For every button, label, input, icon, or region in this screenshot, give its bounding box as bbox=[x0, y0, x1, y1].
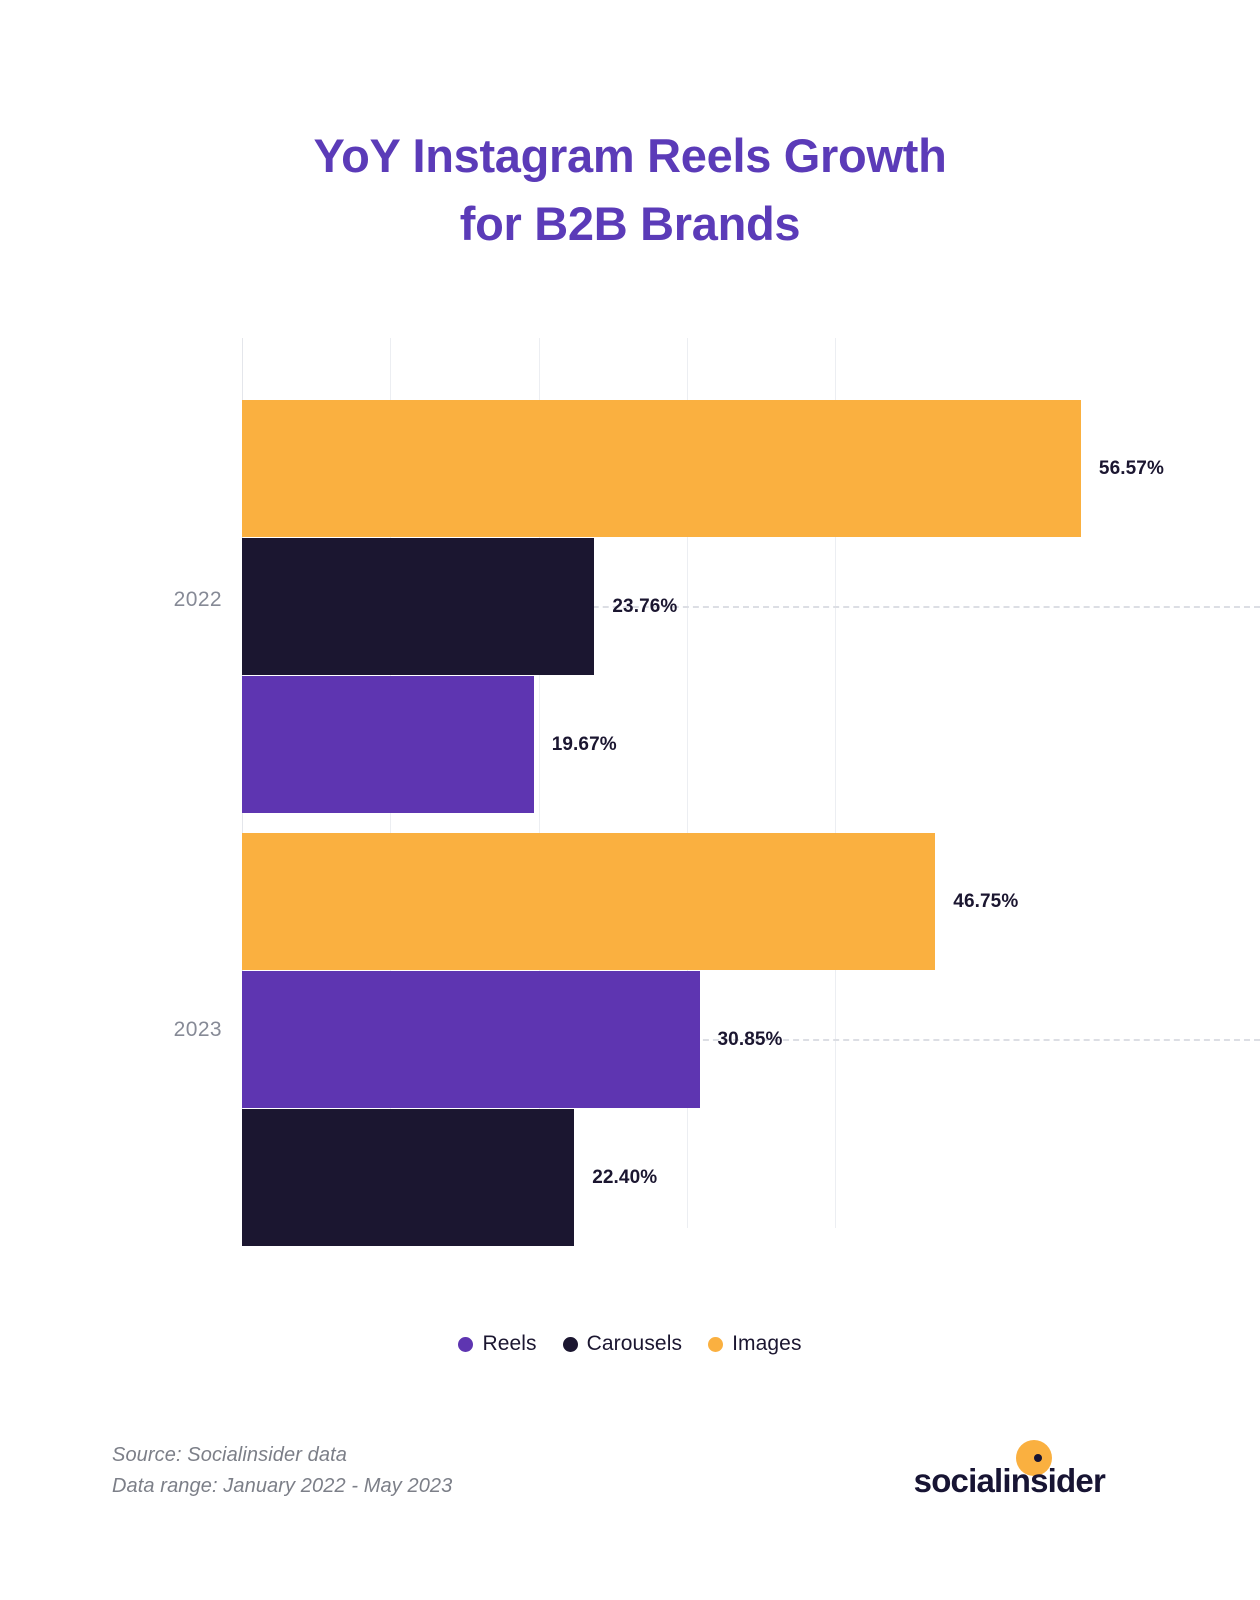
chart-container: 56.57%23.76%19.67%46.75%30.85%22.40% 202… bbox=[0, 0, 1260, 1600]
bar-2023-carousels[interactable] bbox=[242, 1109, 574, 1246]
chart-legend: ReelsCarouselsImages bbox=[0, 1332, 1260, 1356]
bar-2022-carousels[interactable] bbox=[242, 538, 594, 675]
bar-value-label-2022-images: 56.57% bbox=[1099, 400, 1164, 537]
legend-item-carousels[interactable]: Carousels bbox=[563, 1332, 682, 1356]
bar-2023-reels[interactable] bbox=[242, 971, 700, 1108]
bar-value-label-2022-carousels: 23.76% bbox=[612, 538, 677, 675]
bar-value-label-2023-reels: 30.85% bbox=[718, 971, 783, 1108]
bar-2023-images[interactable] bbox=[242, 833, 935, 970]
footer-data-range: Data range: January 2022 - May 2023 bbox=[112, 1471, 812, 1502]
legend-label: Reels bbox=[482, 1332, 536, 1356]
bar-2022-reels[interactable] bbox=[242, 676, 534, 813]
footer-source: Source: Socialinsider data bbox=[112, 1440, 812, 1471]
bar-2022-images[interactable] bbox=[242, 400, 1081, 537]
legend-label: Carousels bbox=[587, 1332, 682, 1356]
legend-item-reels[interactable]: Reels bbox=[458, 1332, 536, 1356]
logo-wordmark: socialinsider bbox=[914, 1464, 1105, 1498]
legend-label: Images bbox=[732, 1332, 801, 1356]
category-label-2022: 2022 bbox=[62, 588, 222, 612]
footer-note: Source: Socialinsider data Data range: J… bbox=[112, 1440, 812, 1502]
legend-swatch-reels-icon bbox=[458, 1337, 473, 1352]
logo-eye-dot-icon bbox=[1034, 1454, 1042, 1462]
socialinsider-logo: socialinsider bbox=[914, 1452, 1105, 1498]
bar-group-2023: 46.75%30.85%22.40% bbox=[242, 833, 1260, 1246]
bar-value-label-2022-reels: 19.67% bbox=[552, 676, 617, 813]
legend-swatch-images-icon bbox=[708, 1337, 723, 1352]
legend-swatch-carousels-icon bbox=[563, 1337, 578, 1352]
legend-item-images[interactable]: Images bbox=[708, 1332, 801, 1356]
bar-value-label-2023-images: 46.75% bbox=[953, 833, 1018, 970]
bar-group-2022: 56.57%23.76%19.67% bbox=[242, 400, 1260, 813]
bar-value-label-2023-carousels: 22.40% bbox=[592, 1109, 657, 1246]
plot-area: 56.57%23.76%19.67%46.75%30.85%22.40% bbox=[242, 338, 1080, 1228]
category-label-2023: 2023 bbox=[62, 1018, 222, 1042]
